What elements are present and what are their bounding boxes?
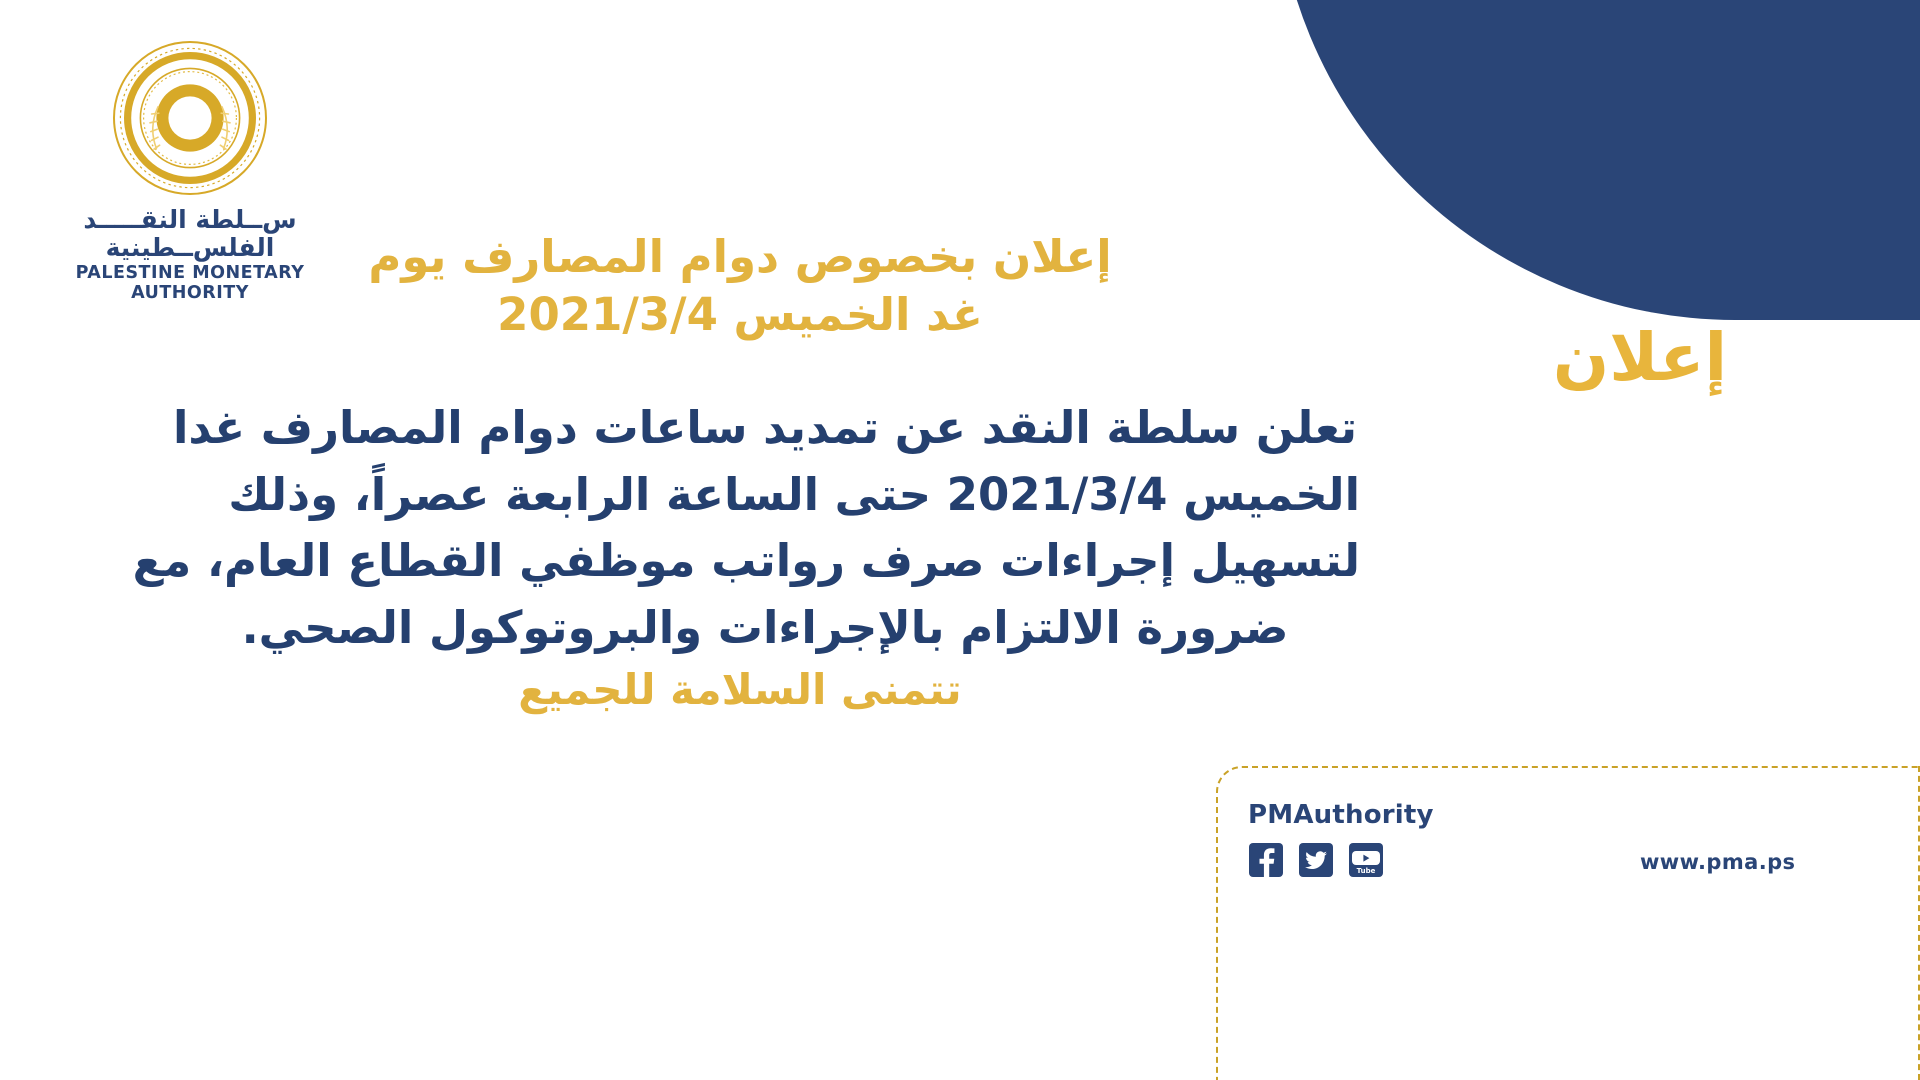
footer-content: PMAuthority Tube <box>1240 786 1900 896</box>
poster-body: تعلن سلطة النقد عن تمديد ساعات دوام المص… <box>170 395 1360 661</box>
facebook-icon[interactable] <box>1248 842 1284 878</box>
youtube-icon[interactable]: Tube <box>1348 842 1384 878</box>
pma-seal-icon: PMA <box>110 38 270 198</box>
body-line-2: الخميس 2021/3/4 حتى الساعة الرابعة عصراً… <box>170 462 1360 529</box>
social-links: Tube <box>1248 842 1384 878</box>
closing-message: تتمنى السلامة للجميع <box>230 665 1250 714</box>
poster-title: إعلان بخصوص دوام المصارف يوم غد الخميس 2… <box>230 228 1250 343</box>
website-url[interactable]: www.pma.ps <box>1640 850 1795 874</box>
announcement-badge-label: إعلان <box>1380 325 1900 391</box>
svg-text:PMA: PMA <box>181 60 199 69</box>
announcement-poster: إعلان PMA س‌ــلطة النقـــــد الفلس‌ــطين… <box>0 0 1920 1080</box>
header-navy-shape <box>1275 0 1920 320</box>
header-shape-fill <box>1275 0 1920 320</box>
social-handle: PMAuthority <box>1248 800 1434 830</box>
svg-text:Tube: Tube <box>1357 867 1376 875</box>
twitter-icon[interactable] <box>1298 842 1334 878</box>
poster-title-line-2: غد الخميس 2021/3/4 <box>230 286 1250 344</box>
body-line-3: لتسهيل إجراءات صرف رواتب موظفي القطاع ال… <box>170 528 1360 595</box>
body-line-4: ضرورة الالتزام بالإجراءات والبروتوكول ال… <box>170 595 1360 662</box>
body-line-1: تعلن سلطة النقد عن تمديد ساعات دوام المص… <box>170 395 1360 462</box>
poster-title-line-1: إعلان بخصوص دوام المصارف يوم <box>368 230 1111 283</box>
